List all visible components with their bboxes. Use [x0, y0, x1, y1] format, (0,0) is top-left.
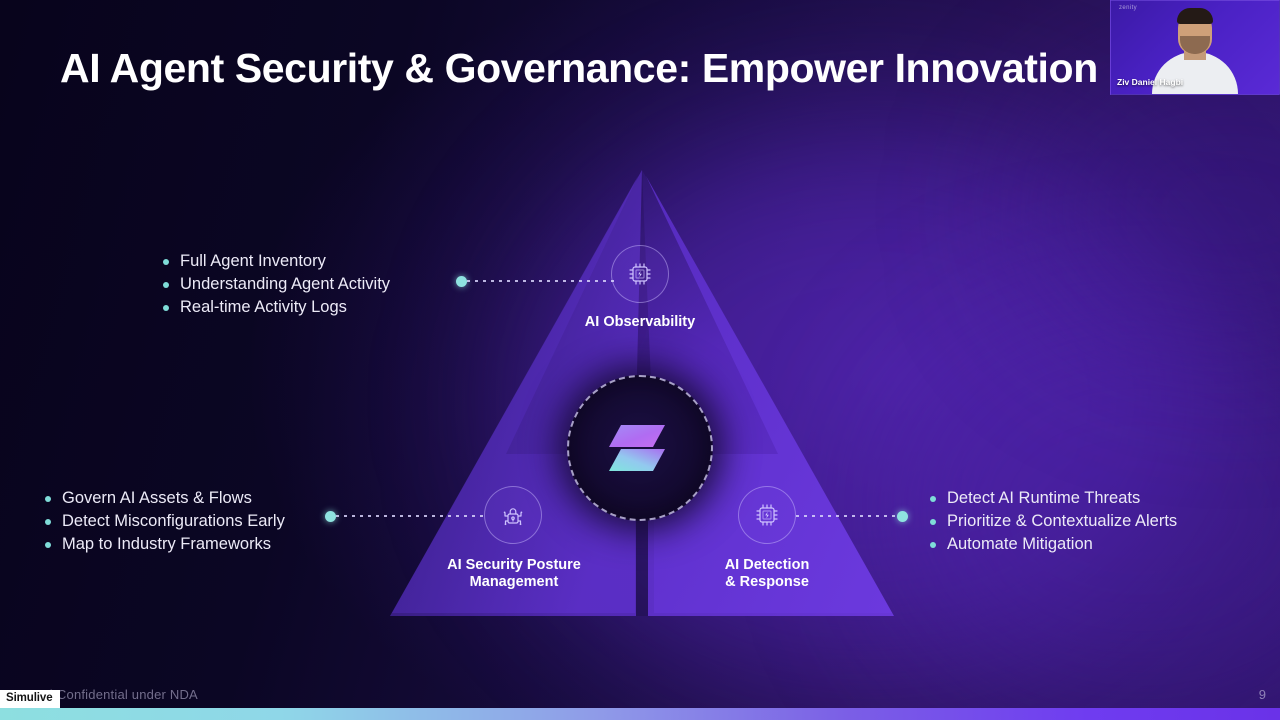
- connector-dotted-line: [467, 280, 614, 282]
- label-ai-detection-response: AI Detection & Response: [667, 557, 867, 590]
- label-line-1: AI Security Posture: [414, 557, 614, 574]
- label-line-2: Management: [414, 574, 614, 591]
- connector-dot: [897, 511, 908, 522]
- connector-posture: [325, 510, 487, 522]
- node-ai-security-posture-management[interactable]: [484, 486, 542, 544]
- speaker-name-label: Ziv Daniel Hagbi: [1117, 77, 1183, 87]
- list-item: Full Agent Inventory: [163, 250, 390, 273]
- list-item: Map to Industry Frameworks: [45, 533, 285, 556]
- bullet-list-detection: Detect AI Runtime Threats Prioritize & C…: [930, 487, 1177, 555]
- playback-progress-bar[interactable]: [0, 708, 1280, 720]
- list-item: Detect Misconfigurations Early: [45, 510, 285, 533]
- center-logo-circle: [567, 375, 713, 521]
- connector-observability: [456, 275, 614, 287]
- presentation-slide: AI Agent Security & Governance: Empower …: [0, 0, 1280, 720]
- bullet-list-observability: Full Agent Inventory Understanding Agent…: [163, 250, 390, 318]
- connector-dot: [325, 511, 336, 522]
- chip-bolt-icon: [752, 500, 782, 530]
- connector-detection: [796, 510, 908, 522]
- node-ai-detection-response[interactable]: [738, 486, 796, 544]
- label-line-2: & Response: [667, 574, 867, 591]
- connector-dotted-line: [796, 515, 897, 517]
- label-line-1: AI Detection: [667, 557, 867, 574]
- list-item: Automate Mitigation: [930, 533, 1177, 556]
- slide-title: AI Agent Security & Governance: Empower …: [60, 44, 1098, 93]
- bullet-list-posture: Govern AI Assets & Flows Detect Misconfi…: [45, 487, 285, 555]
- list-item: Detect AI Runtime Threats: [930, 487, 1177, 510]
- label-ai-observability: AI Observability: [540, 314, 740, 331]
- speaker-video-overlay[interactable]: zenity Ziv Daniel Hagbi: [1110, 0, 1280, 95]
- list-item: Understanding Agent Activity: [163, 273, 390, 296]
- speaker-hair: [1177, 8, 1213, 24]
- simulive-badge: Simulive: [0, 690, 60, 708]
- lock-circuit-icon: [498, 500, 528, 530]
- node-ai-observability[interactable]: [611, 245, 669, 303]
- list-item: Prioritize & Contextualize Alerts: [930, 510, 1177, 533]
- chip-bolt-icon: [625, 259, 655, 289]
- background-glow: [1020, 60, 1280, 360]
- video-brand-logo: zenity: [1119, 5, 1137, 11]
- connector-dot: [456, 276, 467, 287]
- list-item: Govern AI Assets & Flows: [45, 487, 285, 510]
- list-item: Real-time Activity Logs: [163, 296, 390, 319]
- page-number: 9: [1259, 687, 1266, 702]
- connector-dotted-line: [336, 515, 487, 517]
- label-ai-security-posture-management: AI Security Posture Management: [414, 557, 614, 590]
- zenity-z-logo-icon: [601, 409, 679, 487]
